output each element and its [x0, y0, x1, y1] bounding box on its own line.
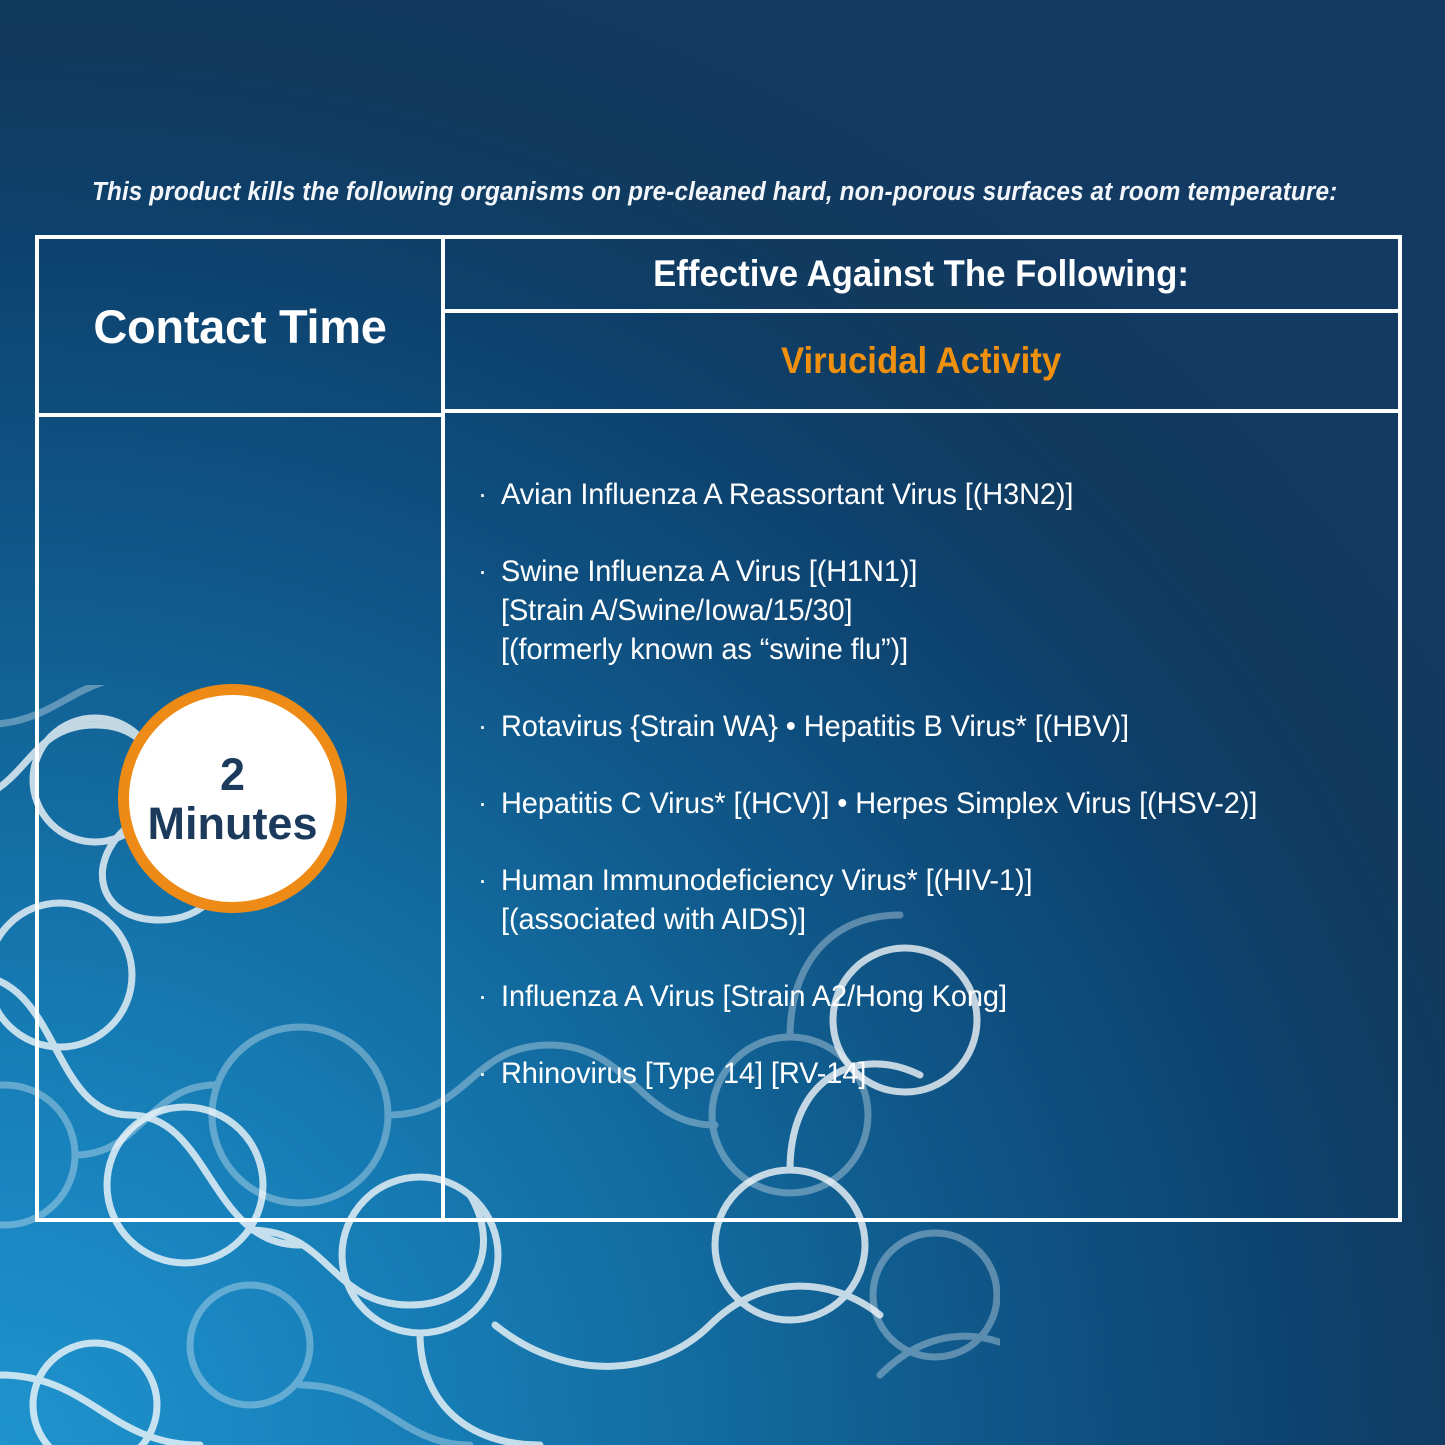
contact-time-unit: Minutes [147, 801, 317, 846]
bullet-icon: · [475, 1054, 501, 1093]
organism-label: Swine Influenza A Virus [(H1N1)] [Strain… [501, 552, 917, 669]
organism-label: Human Immunodeficiency Virus* [(HIV-1)] … [501, 861, 1032, 939]
list-item: · Avian Influenza A Reassortant Virus [(… [475, 475, 1398, 514]
organism-list: · Avian Influenza A Reassortant Virus [(… [445, 413, 1398, 1218]
list-item: · Influenza A Virus [Strain A2/Hong Kong… [475, 977, 1398, 1016]
intro-statement: This product kills the following organis… [92, 178, 1337, 207]
list-item: · Rhinovirus [Type 14] [RV-14] [475, 1054, 1398, 1093]
effective-against-column: Effective Against The Following: Virucid… [445, 239, 1398, 1218]
organism-label: Rotavirus {Strain WA} • Hepatitis B Viru… [501, 707, 1129, 746]
list-item: · Hepatitis C Virus* [(HCV)] • Herpes Si… [475, 784, 1398, 823]
list-item: · Swine Influenza A Virus [(H1N1)] [Stra… [475, 552, 1398, 669]
list-item: · Human Immunodeficiency Virus* [(HIV-1)… [475, 861, 1398, 939]
bullet-icon: · [475, 707, 501, 746]
organism-label: Rhinovirus [Type 14] [RV-14] [501, 1054, 866, 1093]
bullet-icon: · [475, 784, 501, 823]
organism-label: Influenza A Virus [Strain A2/Hong Kong] [501, 977, 1007, 1016]
infographic-page: This product kills the following organis… [0, 0, 1445, 1445]
organism-label: Avian Influenza A Reassortant Virus [(H3… [501, 475, 1073, 514]
efficacy-table: Contact Time 2 Minutes Effective Against… [35, 235, 1402, 1222]
bullet-icon: · [475, 977, 501, 1016]
organism-label: Hepatitis C Virus* [(HCV)] • Herpes Simp… [501, 784, 1257, 823]
virucidal-activity-header: Virucidal Activity [445, 313, 1398, 413]
contact-time-header-label: Contact Time [93, 299, 386, 354]
effective-against-header: Effective Against The Following: [445, 239, 1398, 313]
contact-time-header: Contact Time [39, 239, 441, 417]
contact-time-column: Contact Time 2 Minutes [39, 239, 445, 1218]
contact-time-badge: 2 Minutes [118, 684, 347, 913]
bullet-icon: · [475, 475, 501, 514]
bullet-icon: · [475, 861, 501, 939]
list-item: · Rotavirus {Strain WA} • Hepatitis B Vi… [475, 707, 1398, 746]
effective-against-header-label: Effective Against The Following: [654, 253, 1190, 295]
contact-time-cell: 2 Minutes [39, 417, 441, 1218]
virucidal-activity-label: Virucidal Activity [781, 340, 1061, 382]
contact-time-value: 2 [220, 752, 245, 797]
bullet-icon: · [475, 552, 501, 669]
